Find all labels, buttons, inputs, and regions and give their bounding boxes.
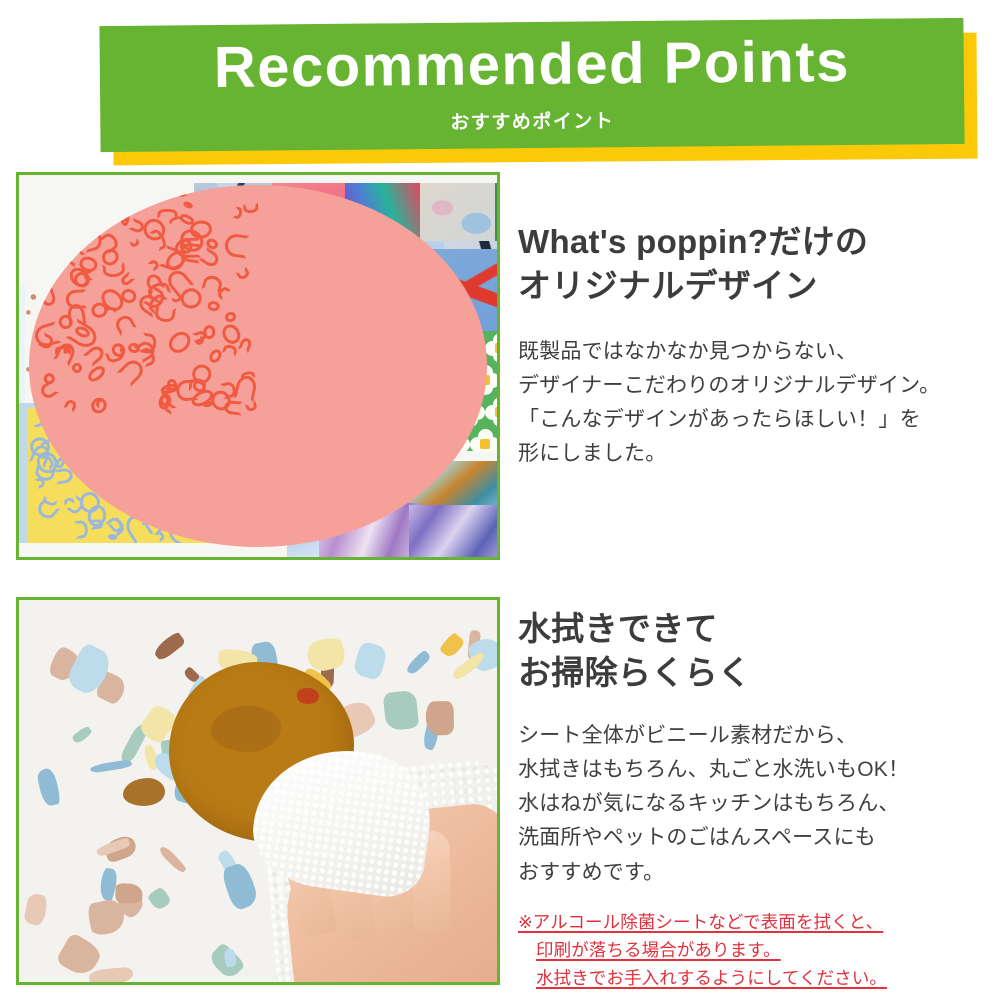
terrazzo-chip (115, 883, 143, 904)
body-line: 洗面所やペットのごはんスペースにも (518, 821, 984, 855)
squiggle-motif (203, 325, 216, 340)
squiggle-motif (147, 257, 161, 271)
section-heading-original-design: What's poppin?だけの オリジナルデザイン (518, 220, 984, 308)
squiggle-motif (236, 267, 251, 282)
squiggle-motif (164, 327, 194, 357)
squiggle-motif (88, 395, 110, 417)
terrazzo-chip (220, 861, 260, 912)
daisy-flower (470, 429, 497, 451)
terrazzo-chip (36, 768, 61, 808)
terrazzo-chip (383, 690, 420, 731)
section-body-original-design: 既製品ではなかなか見つからない、 デザイナーこだわりのオリジナルデザイン。 「こ… (518, 335, 984, 471)
squiggle-motif (74, 520, 89, 540)
text-column-easy-clean: 水拭きできて お掃除らくらく シート全体がビニール素材だから、 水拭きはもちろん… (518, 607, 984, 993)
body-line: おすすめです。 (518, 856, 984, 890)
caution-note: ※アルコール除菌シートなどで表面を拭くと、 印刷が落ちる場合があります。 水拭き… (518, 908, 984, 993)
pink-mat-inner (29, 185, 487, 547)
body-line: 形にしました。 (518, 437, 984, 471)
header-banner: Recommended Points おすすめポイント (99, 18, 964, 152)
section-heading-easy-clean: 水拭きできて お掃除らくらく (518, 607, 984, 695)
design-sheet-green-stripe (495, 183, 497, 245)
heading-line-1: What's poppin?だけの (518, 220, 984, 264)
spill-tail (123, 778, 165, 806)
squiggle-motif (65, 290, 87, 310)
body-line: 「こんなデザインがあったらほしい！」を (518, 403, 984, 437)
body-line: デザイナーこだわりのオリジナルデザイン。 (518, 369, 984, 403)
photo-original-design-content (19, 175, 497, 557)
photo-original-design (16, 172, 500, 560)
terrazzo-chip (23, 892, 48, 926)
squiggle-motif (208, 300, 221, 311)
terrazzo-chip (404, 649, 431, 675)
heading-line-1: 水拭きできて (518, 607, 984, 651)
squiggle-motif (113, 313, 137, 337)
squiggle-motif (32, 321, 61, 348)
note-line: 水拭きでお手入れするようにしてください。 (518, 964, 984, 992)
note-line: 印刷が落ちる場合があります。 (518, 936, 984, 964)
terrazzo-chip (152, 631, 187, 663)
heading-line-2: お掃除らくらく (518, 651, 984, 695)
squiggle-motif (245, 401, 258, 414)
squiggle-motif (158, 209, 178, 219)
squiggle-motif (63, 398, 78, 413)
design-sheet-wall-texture (420, 183, 495, 245)
text-column-original-design: What's poppin?だけの オリジナルデザイン 既製品ではなかなか見つか… (518, 220, 984, 472)
squiggle-motif (223, 233, 249, 259)
squiggle-motif (208, 347, 224, 364)
squiggle-motif (183, 201, 195, 210)
design-sheet-marble-violet (409, 505, 497, 557)
terrazzo-chip (90, 759, 133, 774)
squiggle-motif (222, 343, 238, 357)
squiggle-motif (189, 378, 207, 391)
squiggle-motif (130, 238, 141, 248)
section-easy-clean: 水拭きできて お掃除らくらく シート全体がビニール素材だから、 水拭きはもちろん… (0, 597, 1000, 997)
squiggle-motif (39, 287, 57, 307)
body-line: 既製品ではなかなか見つからない、 (518, 335, 984, 369)
squiggle-motif (238, 336, 253, 353)
terrazzo-chip (426, 702, 455, 736)
terrazzo-chip (147, 886, 172, 911)
squiggle-motif (223, 400, 242, 416)
terrazzo-chip (223, 948, 237, 967)
promo-page: Recommended Points おすすめポイント (0, 0, 1000, 1000)
terrazzo-chip (89, 966, 134, 982)
squiggle-motif (38, 379, 59, 400)
photo-easy-clean-content (19, 600, 497, 982)
squiggle-motif (243, 202, 259, 214)
squiggle-motif (224, 310, 238, 323)
body-line: 水拭きはもちろん、丸ごと水洗いもOK！ (518, 753, 984, 787)
squiggle-motif (70, 361, 84, 375)
page-header: Recommended Points おすすめポイント (0, 0, 1000, 172)
spill-chip-red (297, 688, 319, 704)
terrazzo-chip (157, 845, 187, 875)
daisy-flower (485, 397, 497, 427)
photo-easy-clean (16, 597, 500, 985)
page-subtitle: おすすめポイント (450, 106, 614, 135)
terrazzo-chip (352, 641, 389, 682)
body-line: 水はねが気になるキッチンはもちろん、 (518, 787, 984, 821)
note-line: ※アルコール除菌シートなどで表面を拭くと、 (518, 908, 984, 936)
squiggle-motif (86, 363, 108, 384)
spill-highlight (211, 706, 281, 752)
heading-line-2: オリジナルデザイン (518, 264, 984, 308)
section-original-design: What's poppin?だけの オリジナルデザイン 既製品ではなかなか見つか… (0, 172, 1000, 572)
terrazzo-chip (72, 725, 94, 745)
page-title: Recommended Points (213, 33, 850, 99)
terrazzo-chip (439, 632, 466, 660)
body-line: シート全体がビニール素材だから、 (518, 719, 984, 753)
section-body-easy-clean: シート全体がビニール素材だから、 水拭きはもちろん、丸ごと水洗いもOK！ 水はね… (518, 719, 984, 889)
